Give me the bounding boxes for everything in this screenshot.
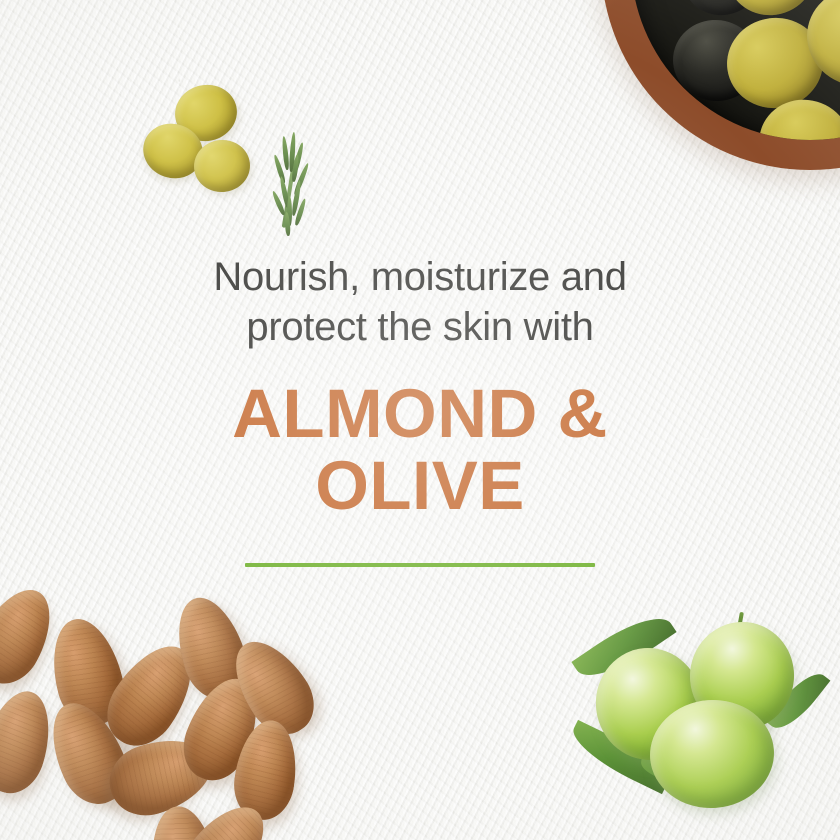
promo-banner: Nourish, moisturize and protect the skin… xyxy=(0,0,840,840)
green-divider-rule xyxy=(245,563,595,567)
rosemary-sprig-icon xyxy=(263,132,333,232)
headline-text: ALMOND & OLIVE xyxy=(0,378,840,522)
text-block: Nourish, moisturize and protect the skin… xyxy=(0,252,840,522)
subtitle-text: Nourish, moisturize and protect the skin… xyxy=(0,252,840,352)
